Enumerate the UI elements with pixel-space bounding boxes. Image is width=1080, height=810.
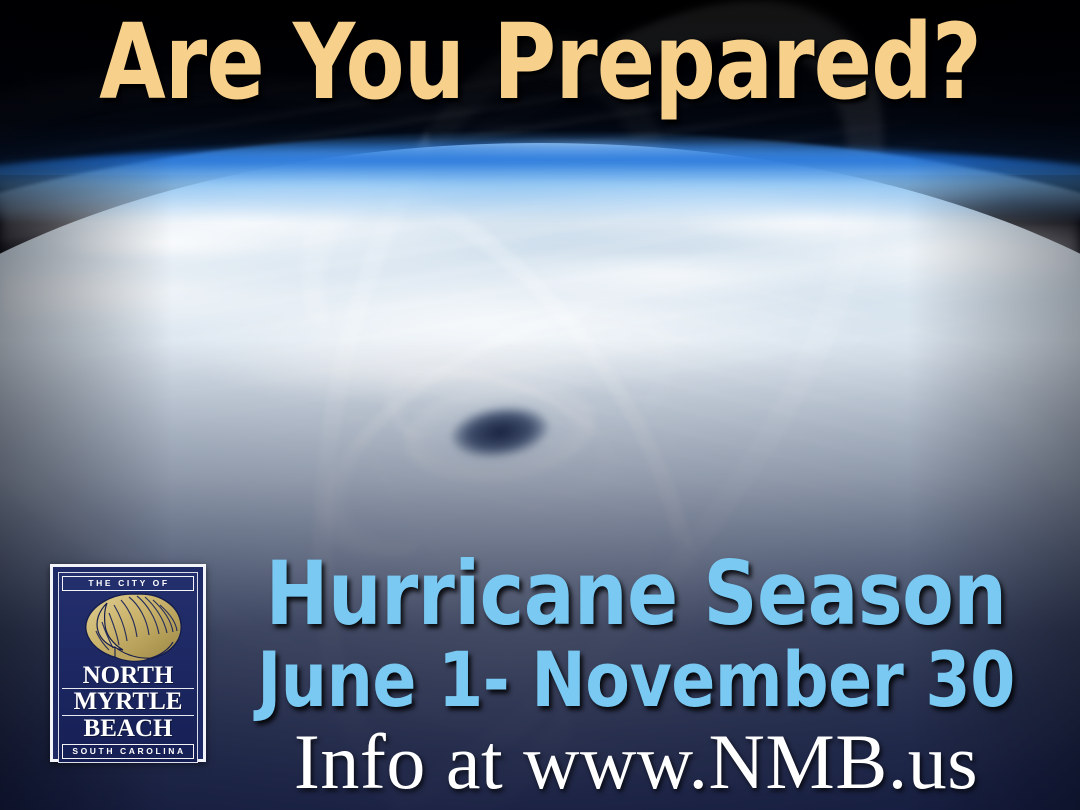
logo-city-name: NORTH MYRTLE BEACH (62, 663, 194, 742)
page-title: Are You Prepared? (43, 6, 1037, 118)
logo-name-line-1: NORTH (62, 663, 194, 689)
message-block: Hurricane Season June 1- November 30 Inf… (214, 551, 1058, 802)
logo-inner-frame: THE CITY OF (58, 572, 198, 763)
season-dates: June 1- November 30 (235, 641, 1037, 719)
conch-shell-icon (62, 591, 194, 663)
logo-bottom-band-label: SOUTH CAROLINA (62, 744, 194, 759)
logo-top-band-label: THE CITY OF (62, 576, 194, 591)
logo-name-line-2: MYRTLE (62, 688, 194, 715)
info-website-line: Info at www.NMB.us (214, 721, 1058, 802)
hurricane-preparedness-poster: Are You Prepared? THE CITY OF (0, 0, 1080, 810)
logo-name-line-3: BEACH (62, 715, 194, 742)
city-of-north-myrtle-beach-logo: THE CITY OF (50, 564, 206, 762)
hurricane-season-heading: Hurricane Season (235, 551, 1037, 637)
